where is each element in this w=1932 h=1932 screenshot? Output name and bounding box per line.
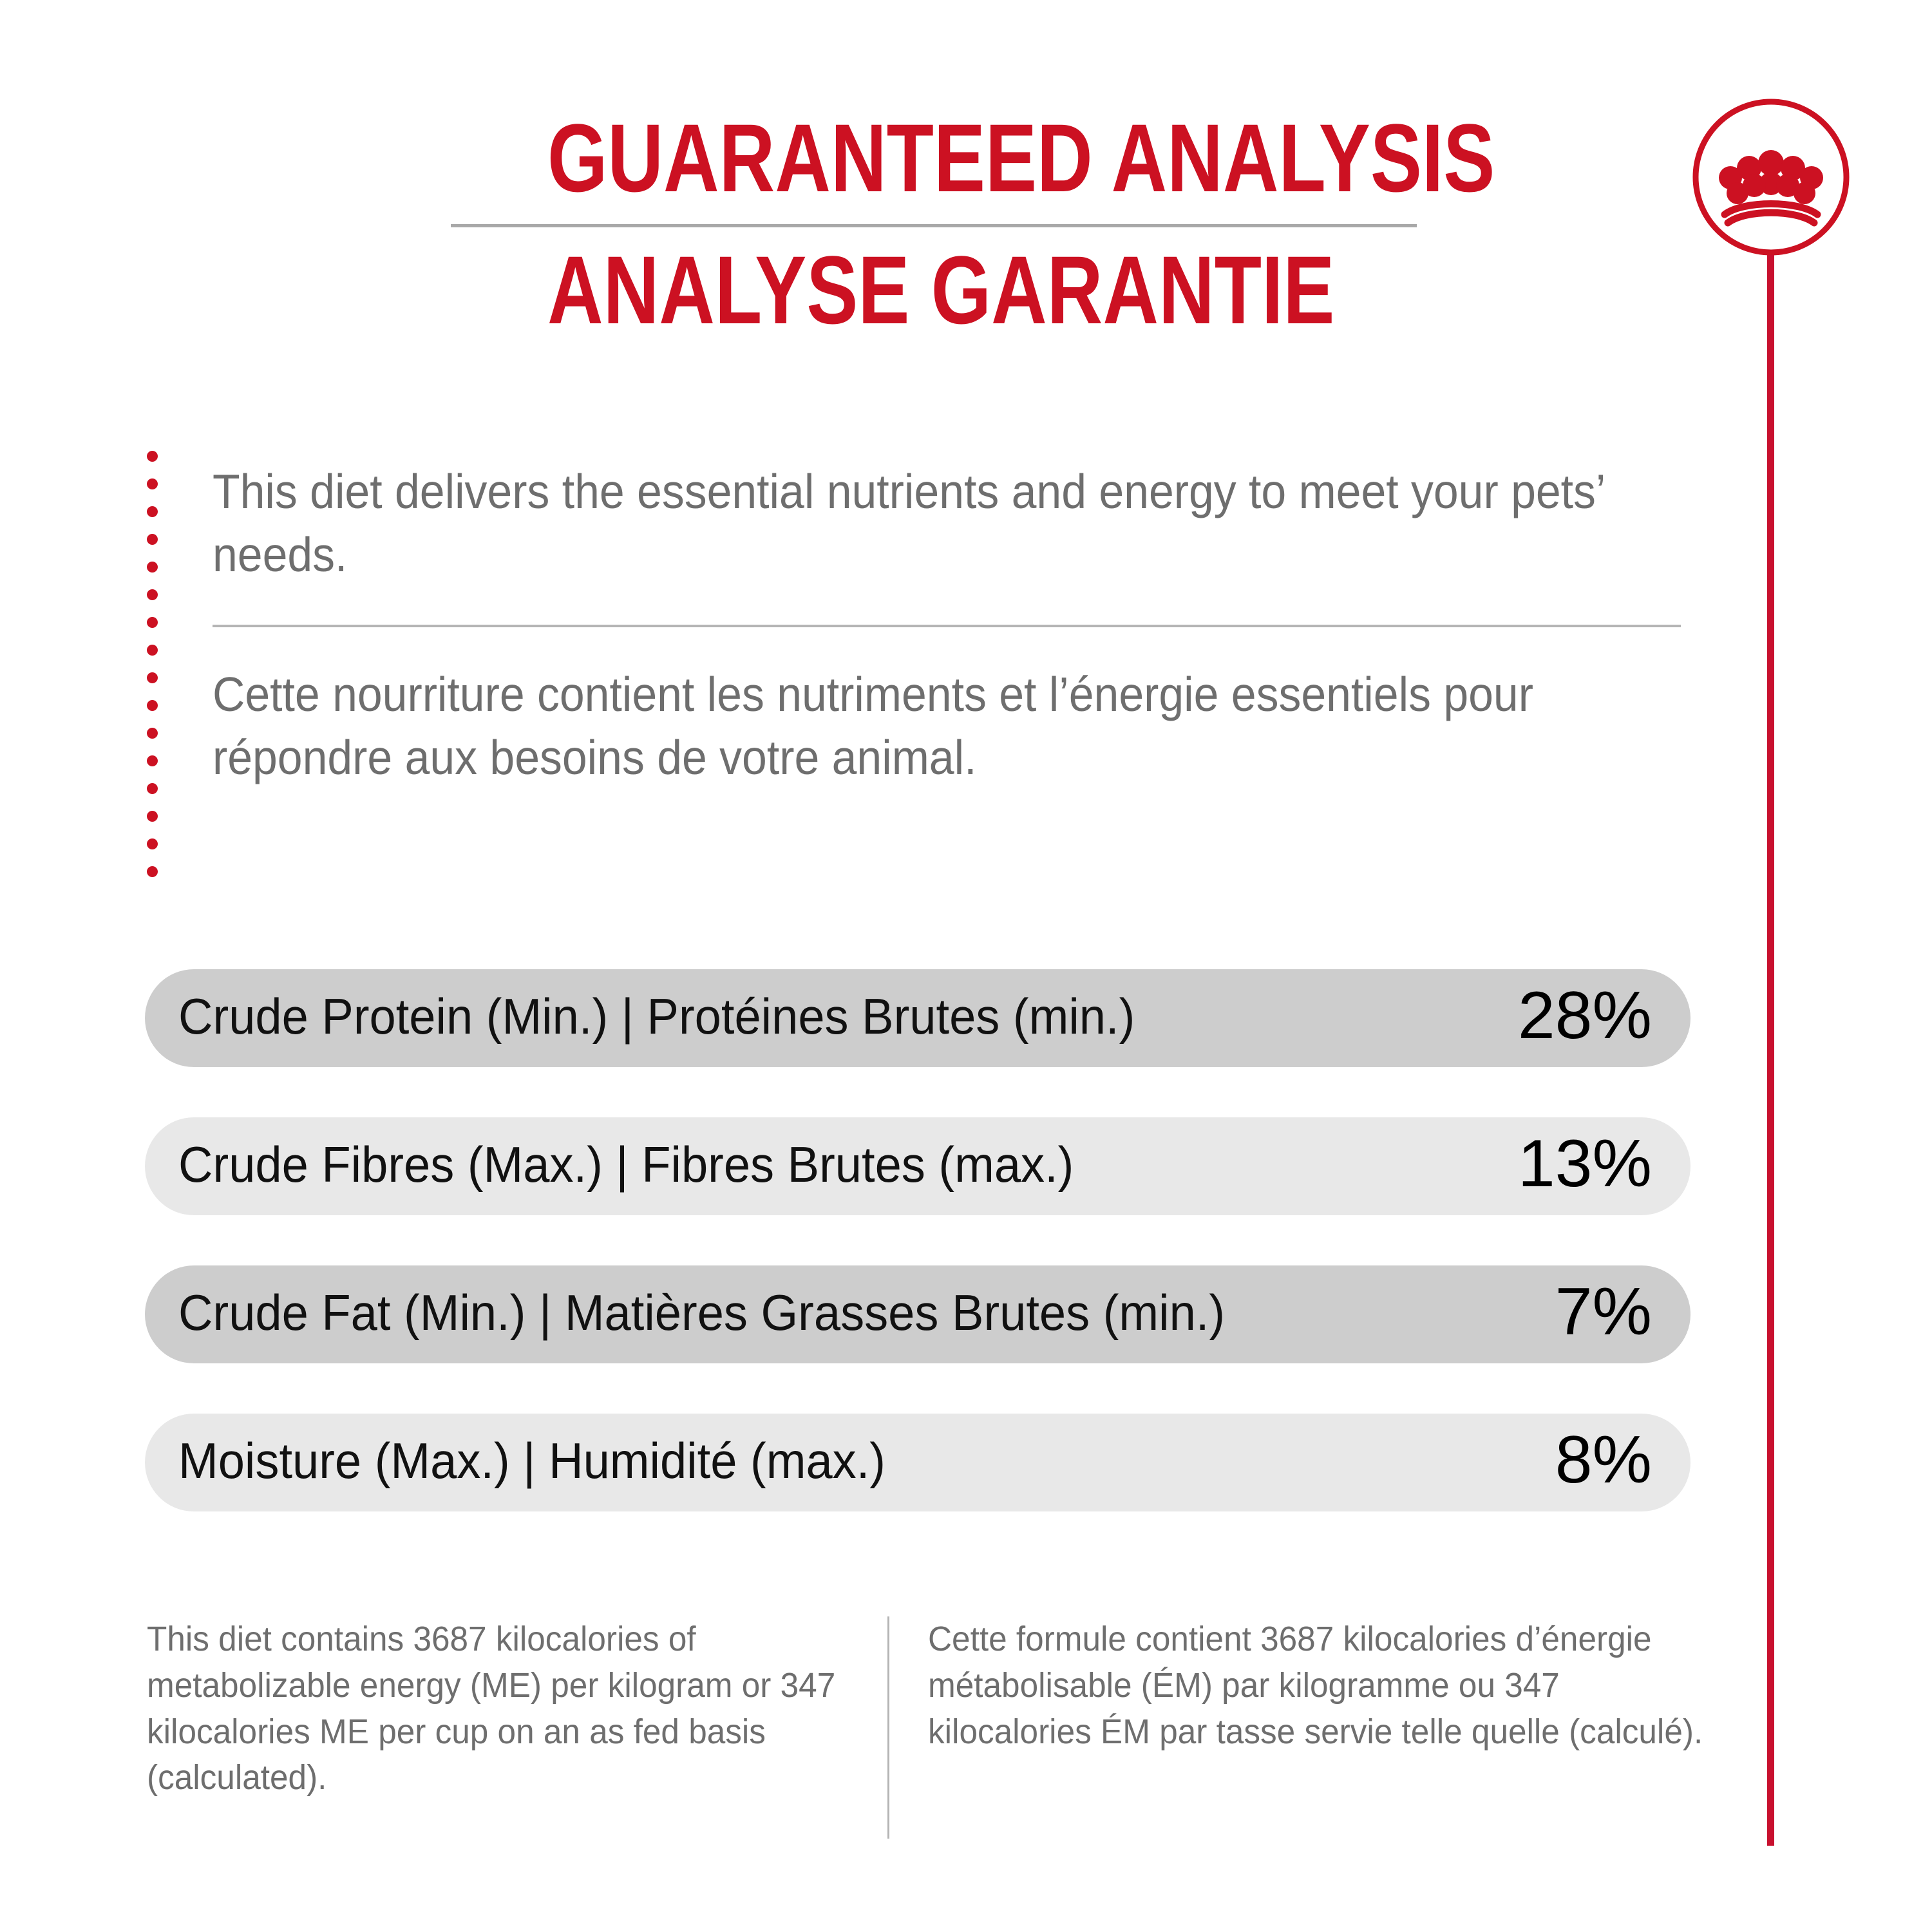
logo-stem-line — [1767, 255, 1774, 1846]
nutrient-value: 13% — [1459, 1130, 1652, 1202]
footer-text-french: Cette formule contient 3687 kilocalories… — [928, 1616, 1719, 1755]
nutrient-label: Moisture (Max.) | Humidité (max.) — [178, 1435, 1395, 1490]
dotted-accent-rail — [147, 451, 158, 895]
intro-divider — [213, 625, 1681, 627]
title-english: GUARANTEED ANALYSIS — [547, 109, 1320, 206]
table-row: Moisture (Max.) | Humidité (max.) 8% — [145, 1414, 1690, 1511]
nutrient-label: Crude Fibres (Max.) | Fibres Brutes (max… — [178, 1139, 1395, 1193]
nutrient-label: Crude Protein (Min.) | Protéines Brutes … — [178, 991, 1395, 1045]
intro-paragraph-french: Cette nourriture contient les nutriments… — [213, 663, 1687, 789]
title-french: ANALYSE GARANTIE — [547, 241, 1320, 338]
footer-column-french: Cette formule contient 3687 kilocalories… — [889, 1616, 1720, 1839]
royal-canin-logo — [1690, 97, 1851, 258]
table-row: Crude Protein (Min.) | Protéines Brutes … — [145, 969, 1690, 1067]
footer-column-english: This diet contains 3687 kilocalories of … — [147, 1616, 887, 1839]
analysis-table: Crude Protein (Min.) | Protéines Brutes … — [145, 969, 1690, 1562]
footer-text-english: This diet contains 3687 kilocalories of … — [147, 1616, 848, 1801]
intro-block: This diet delivers the essential nutrien… — [213, 460, 1687, 789]
guaranteed-analysis-panel: GUARANTEED ANALYSIS ANALYSE GARANTIE Thi… — [0, 0, 1932, 1932]
nutrient-value: 28% — [1459, 982, 1652, 1054]
nutrient-label: Crude Fat (Min.) | Matières Grasses Brut… — [178, 1287, 1395, 1341]
table-row: Crude Fat (Min.) | Matières Grasses Brut… — [145, 1265, 1690, 1363]
footer-block: This diet contains 3687 kilocalories of … — [147, 1616, 1744, 1839]
nutrient-value: 8% — [1459, 1426, 1652, 1499]
title-divider — [451, 224, 1417, 227]
intro-paragraph-english: This diet delivers the essential nutrien… — [213, 460, 1687, 586]
page-title: GUARANTEED ANALYSIS ANALYSE GARANTIE — [451, 109, 1417, 338]
table-row: Crude Fibres (Max.) | Fibres Brutes (max… — [145, 1117, 1690, 1215]
royal-canin-crown-icon — [1690, 97, 1851, 258]
nutrient-value: 7% — [1459, 1278, 1652, 1350]
